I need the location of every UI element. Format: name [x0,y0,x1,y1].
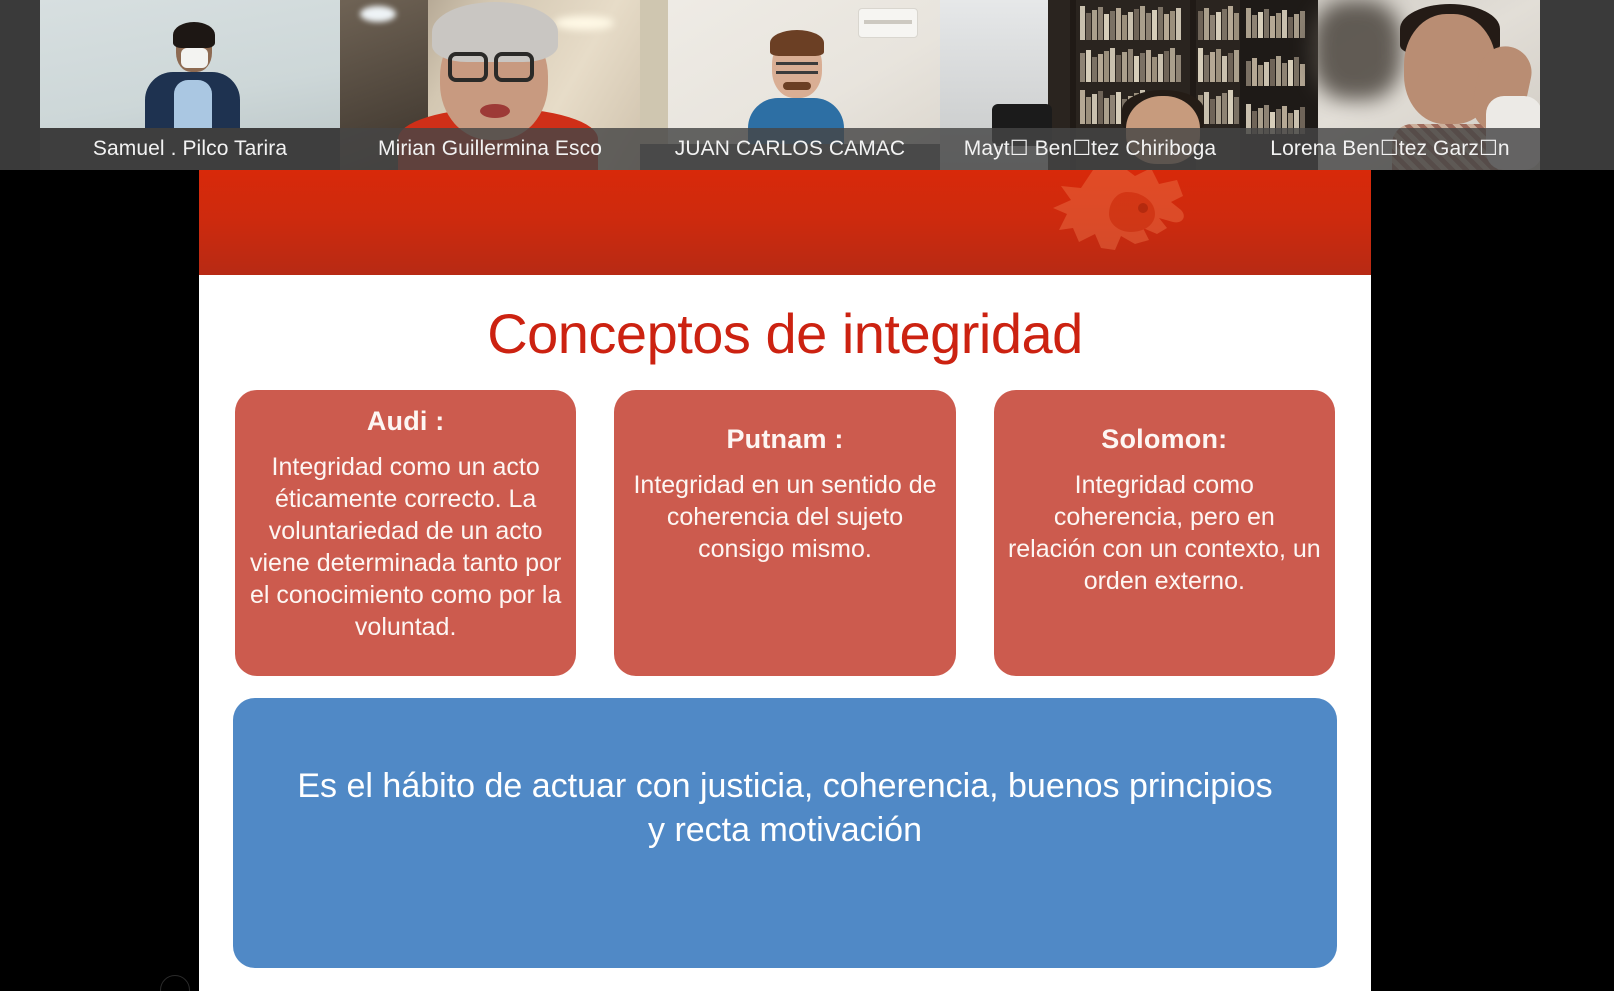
participant-name-label: JUAN CARLOS CAMAC [640,128,940,170]
concept-cards-row: Audi : Integridad como un acto éticament… [233,390,1337,676]
concept-card-putnam: Putnam : Integridad en un sentido de coh… [614,390,955,676]
concept-card-body: Integridad como un acto éticamente corre… [249,451,562,643]
video-tile-lorena[interactable]: Lorena Ben☐tez Garz☐n [1240,0,1540,170]
summary-banner: Es el hábito de actuar con justicia, coh… [233,698,1337,968]
video-tile-mirian[interactable]: Mirian Guillermina Esco [340,0,640,170]
concept-card-title: Putnam : [628,424,941,455]
concept-card-title: Audi : [249,406,562,437]
concept-card-body: Integridad en un sentido de coherencia d… [628,469,941,565]
video-tile-mayte[interactable]: Mayt☐ Ben☐tez Chiriboga [940,0,1240,170]
page-title: Conceptos de integridad [233,301,1337,366]
participant-filmstrip: Samuel . Pilco Tarira Mirian Guillermina… [0,0,1614,170]
concept-card-body: Integridad como coherencia, pero en rela… [1008,469,1321,597]
slide-header-band [199,170,1371,275]
participant-name-label: Lorena Ben☐tez Garz☐n [1240,128,1540,170]
participant-name-label: Mirian Guillermina Esco [340,128,640,170]
zoom-meeting-window: Samuel . Pilco Tarira Mirian Guillermina… [0,0,1614,991]
concept-card-audi: Audi : Integridad como un acto éticament… [235,390,576,676]
concept-card-title: Solomon: [1008,424,1321,455]
face-mask-icon [181,48,208,68]
participant-name-label: Mayt☐ Ben☐tez Chiriboga [940,128,1240,170]
eyeglasses-icon [776,62,818,74]
video-tile-samuel[interactable]: Samuel . Pilco Tarira [40,0,340,170]
dragon-head-logo-icon [1031,170,1221,275]
concept-card-solomon: Solomon: Integridad como coherencia, per… [994,390,1335,676]
shared-screen-slide: Conceptos de integridad Audi : Integrida… [199,170,1371,991]
slide-content: Conceptos de integridad Audi : Integrida… [199,301,1371,968]
filmstrip-right-padding [1540,0,1614,170]
toolbar-circle-artifact[interactable] [160,975,190,991]
video-tile-juan-carlos[interactable]: JUAN CARLOS CAMAC [640,0,940,170]
eyeglasses-icon [448,52,488,82]
summary-text: Es el hábito de actuar con justicia, coh… [287,764,1283,968]
participant-name-label: Samuel . Pilco Tarira [40,128,340,170]
filmstrip-left-padding [0,0,40,170]
